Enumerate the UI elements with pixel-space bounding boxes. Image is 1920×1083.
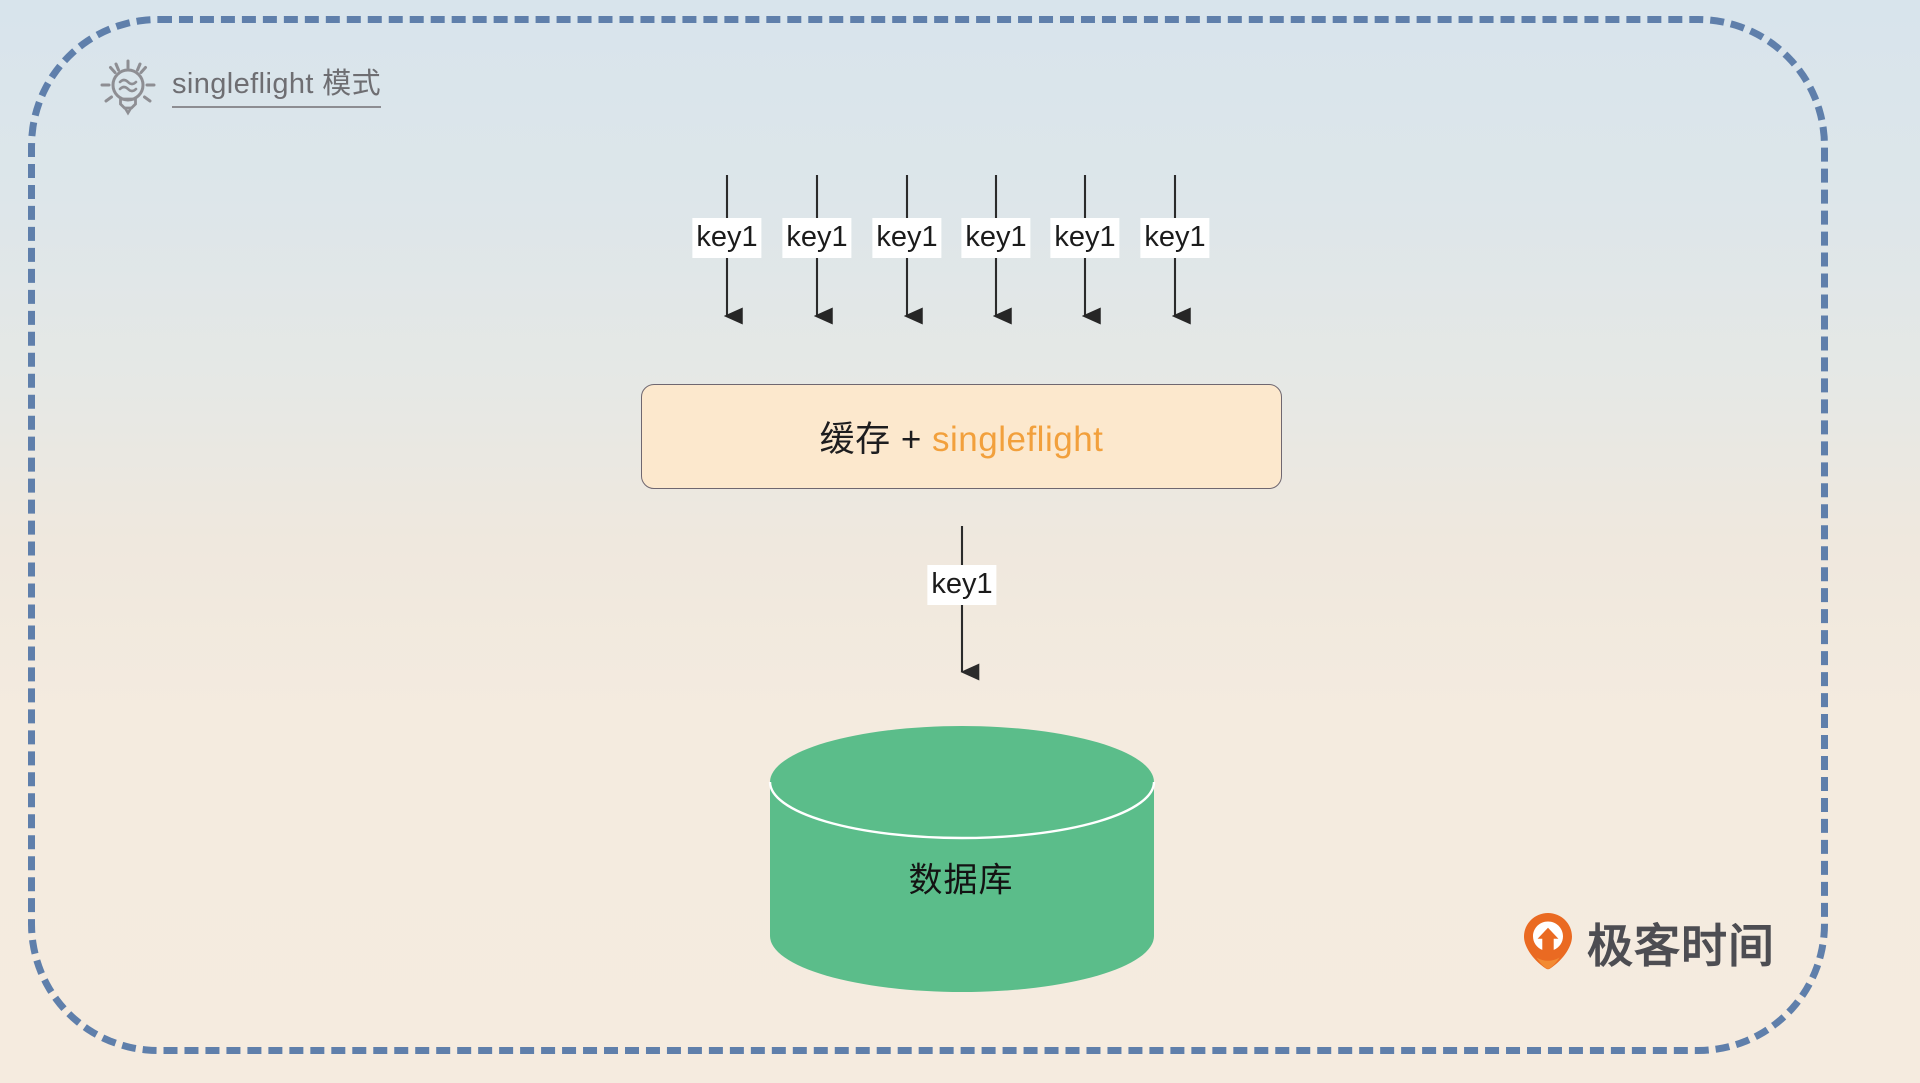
key-label-5: key1 <box>1050 218 1119 258</box>
key-label-4: key1 <box>961 218 1030 258</box>
key-label-6: key1 <box>1140 218 1209 258</box>
key-label-3: key1 <box>872 218 941 258</box>
cache-node: 缓存 + singleflight <box>641 384 1282 489</box>
cache-label-singleflight: singleflight <box>932 420 1103 459</box>
brand-name: 极客时间 <box>1587 910 1775 976</box>
key-label-2: key1 <box>782 218 851 258</box>
diagram-canvas: singleflight 模式 key <box>0 0 1920 1083</box>
key-label-1: key1 <box>692 218 761 258</box>
database-label: 数据库 <box>909 853 1014 902</box>
cache-to-db-key-label: key1 <box>927 565 996 605</box>
brand-logo: 极客时间 <box>1523 910 1775 976</box>
cache-label-cn: 缓存 <box>820 420 891 459</box>
cache-label-plus: + <box>891 420 932 459</box>
geektime-pin-icon <box>1523 912 1573 975</box>
cache-node-label: 缓存 + singleflight <box>820 411 1104 462</box>
